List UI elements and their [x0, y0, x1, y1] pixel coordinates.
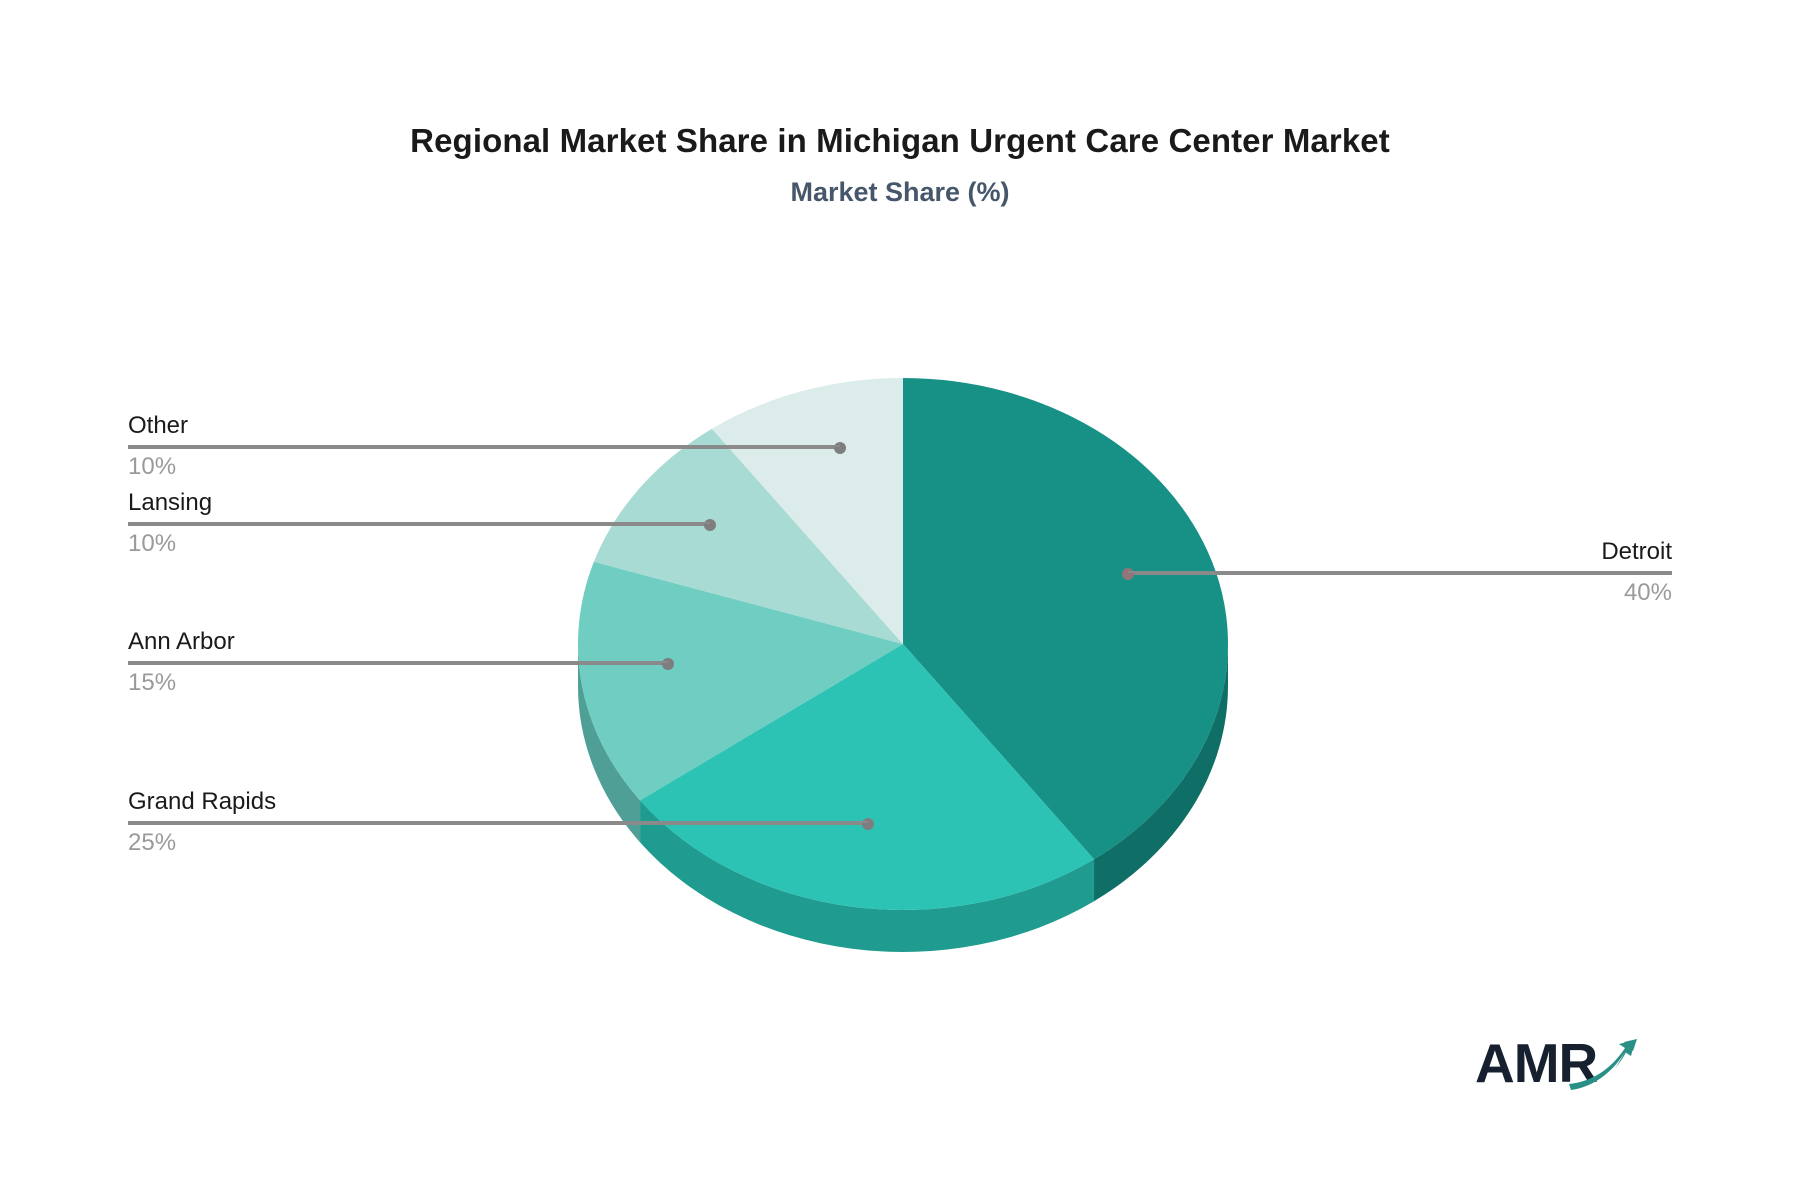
callout-value-detroit: 40% — [1128, 573, 1672, 607]
callout-label-detroit: Detroit — [1128, 538, 1672, 571]
callout-lansing[interactable]: Lansing 10% — [128, 489, 710, 557]
growth-arrow-icon — [1569, 1038, 1649, 1094]
callout-grand-rapids[interactable]: Grand Rapids 25% — [128, 788, 868, 856]
callout-label-other: Other — [128, 412, 840, 445]
chart-canvas: Regional Market Share in Michigan Urgent… — [0, 0, 1800, 1196]
callout-detroit[interactable]: Detroit 40% — [1128, 538, 1672, 606]
amr-logo[interactable]: AMR — [1475, 1030, 1650, 1108]
callout-ann-arbor[interactable]: Ann Arbor 15% — [128, 628, 668, 696]
callout-value-lansing: 10% — [128, 524, 710, 558]
callout-value-other: 10% — [128, 447, 840, 481]
callout-label-lansing: Lansing — [128, 489, 710, 522]
callout-other[interactable]: Other 10% — [128, 412, 840, 480]
callout-value-grand-rapids: 25% — [128, 823, 868, 857]
callout-label-grand-rapids: Grand Rapids — [128, 788, 868, 821]
callout-label-ann-arbor: Ann Arbor — [128, 628, 668, 661]
callout-value-ann-arbor: 15% — [128, 663, 668, 697]
